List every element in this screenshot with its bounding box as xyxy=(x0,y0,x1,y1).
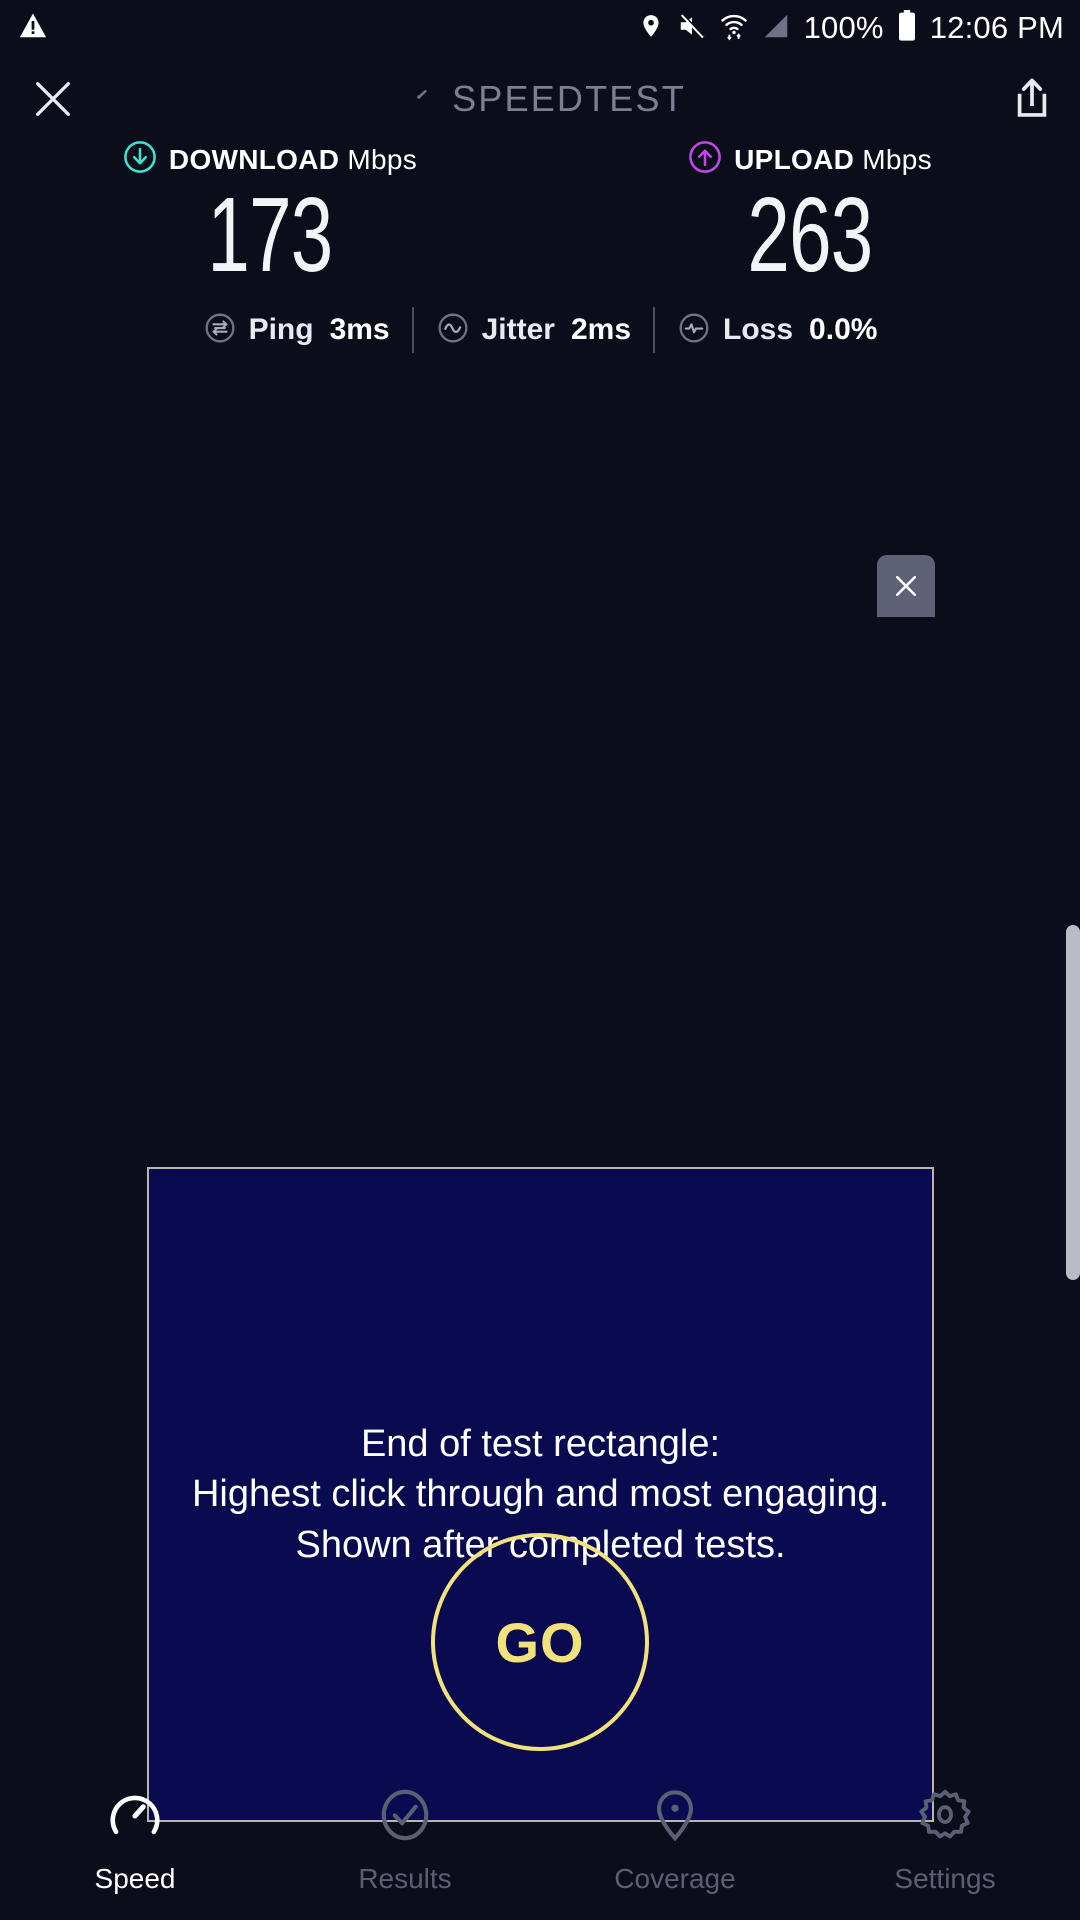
battery-percent-label: 100% xyxy=(804,10,884,46)
upload-label: UPLOAD Mbps xyxy=(734,144,932,176)
battery-icon xyxy=(897,10,917,47)
cellular-signal-icon xyxy=(761,11,791,46)
speedtest-app-screen: 100% 12:06 PM SPEEDTEST xyxy=(0,0,1080,1920)
status-bar-left xyxy=(18,11,48,46)
nav-label-results: Results xyxy=(358,1863,451,1895)
loss-label: Loss xyxy=(723,313,793,347)
jitter-metric: Jitter 2ms xyxy=(414,311,653,350)
download-header: DOWNLOAD Mbps xyxy=(123,140,417,179)
ping-icon xyxy=(203,311,237,350)
jitter-label: Jitter xyxy=(482,313,555,347)
brand: SPEEDTEST xyxy=(400,78,686,121)
nav-item-results[interactable]: Results xyxy=(270,1786,540,1895)
brand-title: SPEEDTEST xyxy=(452,78,686,120)
download-arrow-icon xyxy=(123,140,157,179)
location-icon xyxy=(638,11,664,46)
ping-value: 3ms xyxy=(330,313,390,347)
mute-icon xyxy=(677,11,707,46)
download-upload-row: DOWNLOAD Mbps 173 UPLOAD Mbps xyxy=(0,140,1080,289)
loss-metric: Loss 0.0% xyxy=(655,311,899,350)
nav-label-coverage: Coverage xyxy=(614,1863,735,1895)
ping-label: Ping xyxy=(249,313,314,347)
results-summary: DOWNLOAD Mbps 173 UPLOAD Mbps xyxy=(0,140,1080,353)
upload-header: UPLOAD Mbps xyxy=(688,140,932,179)
close-icon xyxy=(891,571,921,601)
nav-label-settings: Settings xyxy=(894,1863,995,1895)
go-button[interactable]: GO xyxy=(431,1533,649,1751)
clock-label: 12:06 PM xyxy=(930,10,1064,46)
ad-close-button[interactable] xyxy=(877,555,935,617)
download-value: 173 xyxy=(207,181,332,289)
app-header: SPEEDTEST xyxy=(0,56,1080,142)
wifi-icon xyxy=(720,11,748,46)
close-icon[interactable] xyxy=(30,76,76,122)
upload-arrow-icon xyxy=(688,140,722,179)
ping-jitter-loss-row: Ping 3ms Jitter 2ms Loss 0.0% xyxy=(0,307,1080,353)
upload-metric: UPLOAD Mbps 263 xyxy=(540,140,1080,289)
map-pin-icon xyxy=(646,1786,704,1849)
speedometer-icon xyxy=(400,78,438,121)
nav-item-settings[interactable]: Settings xyxy=(810,1786,1080,1895)
speedometer-icon xyxy=(106,1786,164,1849)
share-icon[interactable] xyxy=(1010,76,1054,122)
bottom-navigation: Speed Results Coverage xyxy=(0,1770,1080,1920)
nav-item-coverage[interactable]: Coverage xyxy=(540,1786,810,1895)
nav-label-speed: Speed xyxy=(95,1863,176,1895)
warning-triangle-icon xyxy=(18,11,48,46)
check-circle-icon xyxy=(376,1786,434,1849)
upload-value: 263 xyxy=(747,181,872,289)
download-label: DOWNLOAD Mbps xyxy=(169,144,417,176)
loss-value: 0.0% xyxy=(809,313,877,347)
nav-item-speed[interactable]: Speed xyxy=(0,1786,270,1895)
loss-icon xyxy=(677,311,711,350)
status-bar-right: 100% 12:06 PM xyxy=(638,10,1064,47)
jitter-icon xyxy=(436,311,470,350)
download-metric: DOWNLOAD Mbps 173 xyxy=(0,140,540,289)
go-button-label: GO xyxy=(495,1610,584,1675)
jitter-value: 2ms xyxy=(571,313,631,347)
status-bar: 100% 12:06 PM xyxy=(0,0,1080,56)
scrollbar-thumb[interactable] xyxy=(1066,925,1080,1280)
ping-metric: Ping 3ms xyxy=(181,311,412,350)
gear-icon xyxy=(916,1786,974,1849)
